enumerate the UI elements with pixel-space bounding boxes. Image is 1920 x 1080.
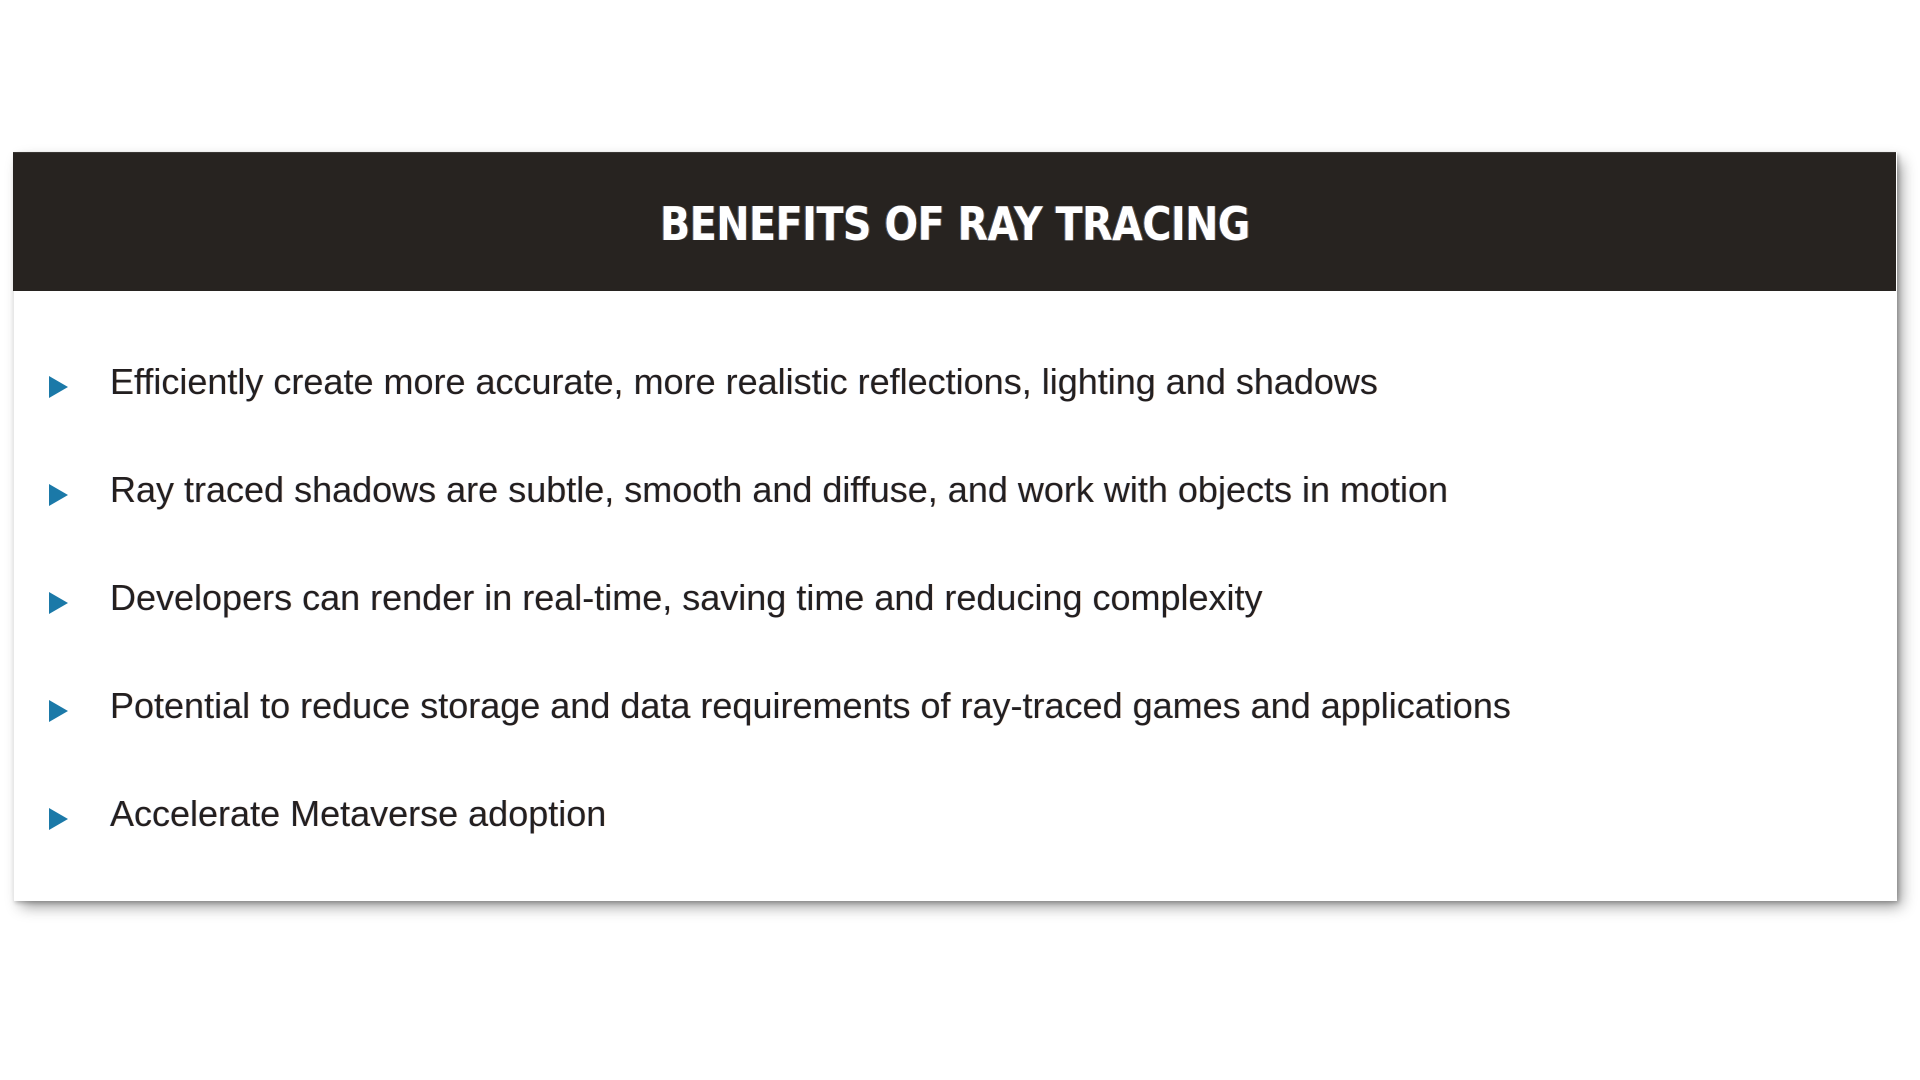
list-item: Potential to reduce storage and data req… bbox=[14, 688, 1897, 796]
list-item-label: Ray traced shadows are subtle, smooth an… bbox=[110, 472, 1448, 508]
triangle-right-icon bbox=[49, 592, 68, 614]
list-item: Accelerate Metaverse adoption bbox=[14, 796, 1897, 904]
list-item-label: Developers can render in real-time, savi… bbox=[110, 580, 1263, 616]
bullet-list: Efficiently create more accurate, more r… bbox=[14, 364, 1897, 904]
triangle-right-icon bbox=[49, 484, 68, 506]
slide-card: BENEFITS OF RAY TRACING Efficiently crea… bbox=[13, 152, 1897, 901]
list-item-label: Efficiently create more accurate, more r… bbox=[110, 364, 1378, 400]
triangle-right-icon bbox=[49, 376, 68, 398]
page-title: BENEFITS OF RAY TRACING bbox=[660, 201, 1250, 247]
slide-body: Efficiently create more accurate, more r… bbox=[13, 291, 1897, 901]
list-item: Ray traced shadows are subtle, smooth an… bbox=[14, 472, 1897, 580]
slide-title-band: BENEFITS OF RAY TRACING bbox=[13, 152, 1896, 291]
list-item: Developers can render in real-time, savi… bbox=[14, 580, 1897, 688]
slide-canvas: BENEFITS OF RAY TRACING Efficiently crea… bbox=[0, 0, 1920, 1080]
list-item-label: Potential to reduce storage and data req… bbox=[110, 688, 1511, 724]
triangle-right-icon bbox=[49, 808, 68, 830]
list-item-label: Accelerate Metaverse adoption bbox=[110, 796, 606, 832]
list-item: Efficiently create more accurate, more r… bbox=[14, 364, 1897, 472]
triangle-right-icon bbox=[49, 700, 68, 722]
